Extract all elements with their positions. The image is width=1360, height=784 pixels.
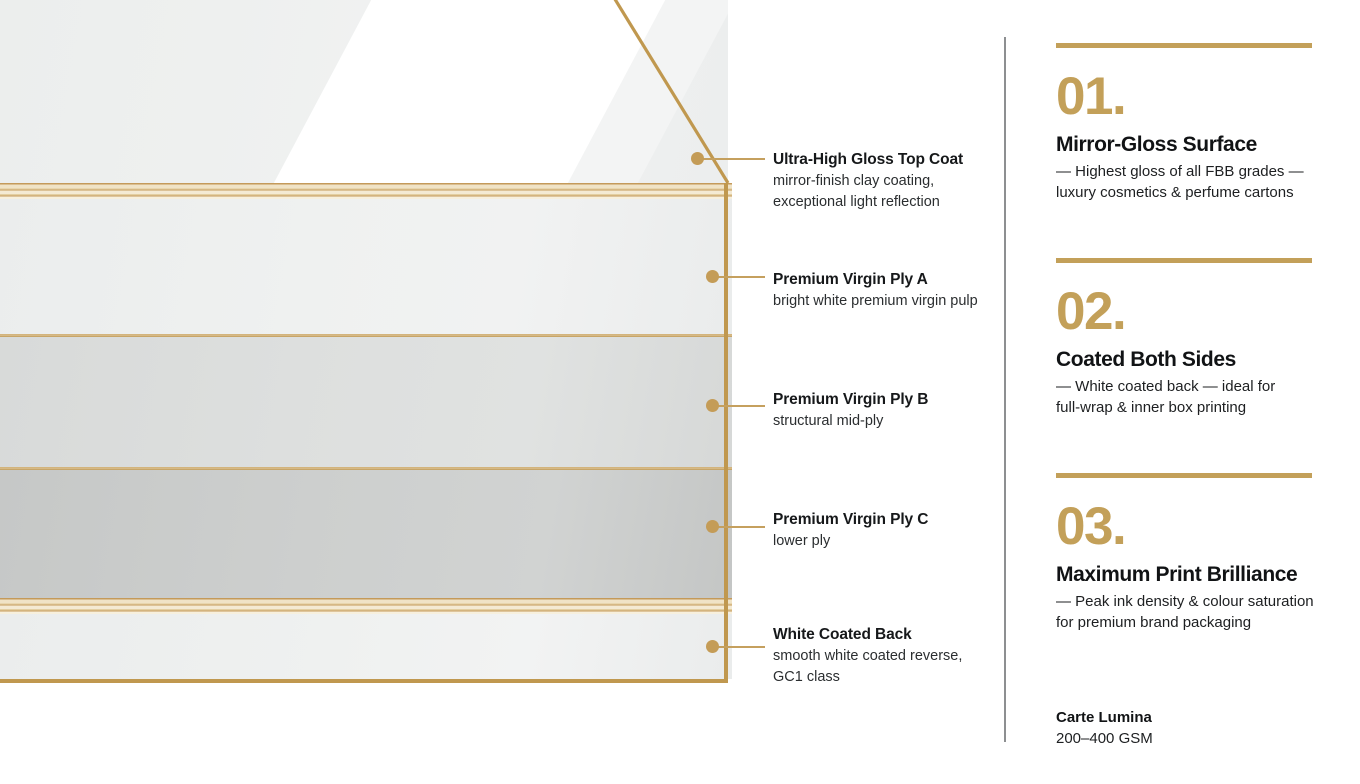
layer-back-coat-band	[0, 598, 732, 614]
leader-dot-back-coat	[706, 640, 719, 653]
feature-heading: Maximum Print Brilliance	[1056, 563, 1316, 587]
callout-title: Premium Virgin Ply B	[773, 390, 928, 409]
leader-dot-ply-b	[706, 399, 719, 412]
leader-line-ply-a	[717, 276, 765, 278]
callout-subtitle: mirror-finish clay coating, exceptional …	[773, 171, 963, 212]
board-cross-section-diagram: Ultra-High Gloss Top Coat mirror-finish …	[0, 0, 1004, 784]
callout-title: Premium Virgin Ply C	[773, 510, 928, 529]
feature-accent-bar	[1056, 258, 1312, 263]
leader-dot-ply-c	[706, 520, 719, 533]
callout-title: Ultra-High Gloss Top Coat	[773, 150, 963, 169]
leader-dot-ply-a	[706, 270, 719, 283]
feature-card-03: 03. Maximum Print Brilliance — Peak ink …	[1056, 473, 1316, 634]
feature-heading: Coated Both Sides	[1056, 348, 1316, 372]
callout-top-coat: Ultra-High Gloss Top Coat mirror-finish …	[773, 150, 963, 213]
feature-card-01: 01. Mirror-Gloss Surface — Highest gloss…	[1056, 43, 1316, 204]
layer-ply-a	[0, 199, 732, 334]
feature-number: 01.	[1056, 70, 1316, 123]
callout-ply-b: Premium Virgin Ply B structural mid-ply	[773, 390, 928, 432]
callout-subtitle: bright white premium virgin pulp	[773, 291, 978, 312]
feature-body: — Peak ink density & colour saturation f…	[1056, 592, 1316, 633]
layer-white-coated-back	[0, 614, 732, 679]
leader-line-back-coat	[717, 646, 765, 648]
callout-back-coat: White Coated Back smooth white coated re…	[773, 625, 962, 688]
callout-subtitle: structural mid-ply	[773, 411, 928, 432]
callout-ply-a: Premium Virgin Ply A bright white premiu…	[773, 270, 978, 312]
feature-accent-bar	[1056, 473, 1312, 478]
layer-top-coat	[0, 183, 732, 199]
sidebar-divider	[1004, 37, 1006, 742]
feature-number: 03.	[1056, 500, 1316, 553]
callout-ply-c: Premium Virgin Ply C lower ply	[773, 510, 928, 552]
feature-accent-bar	[1056, 43, 1312, 48]
feature-body: — Highest gloss of all FBB grades — luxu…	[1056, 162, 1316, 203]
feature-card-02: 02. Coated Both Sides — White coated bac…	[1056, 258, 1316, 419]
leader-line-ply-c	[717, 526, 765, 528]
callout-title: White Coated Back	[773, 625, 962, 644]
feature-heading: Mirror-Gloss Surface	[1056, 133, 1316, 157]
feature-number: 02.	[1056, 285, 1316, 338]
layer-ply-b	[0, 337, 732, 467]
infographic-canvas: Ultra-High Gloss Top Coat mirror-finish …	[0, 0, 1360, 784]
callout-subtitle: smooth white coated reverse, GC1 class	[773, 646, 962, 687]
leader-dot-top-coat	[691, 152, 704, 165]
leader-line-ply-b	[717, 405, 765, 407]
feature-sidebar: 01. Mirror-Gloss Surface — Highest gloss…	[1004, 0, 1360, 784]
board-right-edge	[724, 183, 728, 679]
feature-body: — White coated back — ideal for full-wra…	[1056, 377, 1316, 418]
brand-name: Carte Lumina	[1056, 708, 1336, 728]
brand-block: Carte Lumina 200–400 GSM	[1056, 708, 1336, 749]
brand-grammage: 200–400 GSM	[1056, 729, 1336, 749]
board-bottom-edge	[0, 679, 728, 683]
callout-subtitle: lower ply	[773, 531, 928, 552]
callout-title: Premium Virgin Ply A	[773, 270, 978, 289]
layer-ply-c	[0, 470, 732, 598]
